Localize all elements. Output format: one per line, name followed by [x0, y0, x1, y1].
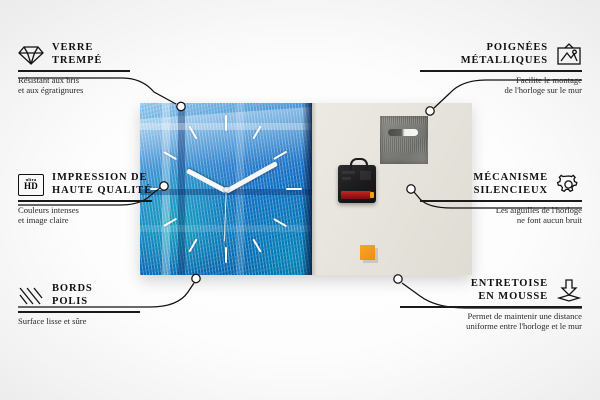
- gear-icon: [556, 173, 582, 197]
- callout-subtitle: Résistant aux bris et aux égratignures: [18, 75, 178, 96]
- callout-header: VERRE TREMPÉ: [18, 42, 178, 67]
- callout-rule: [420, 200, 582, 202]
- mechanism-vent-2: [342, 177, 351, 180]
- diamond-icon: [18, 44, 44, 66]
- callout-poignees-metalliques: POIGNÉES MÉTALLIQUES Facilite le montage…: [420, 42, 582, 96]
- callout-bords-polis: BORDS POLIS Surface lisse et sûre: [18, 283, 178, 326]
- callout-subtitle: Permet de maintenir une distance uniform…: [400, 311, 582, 332]
- second-hand: [224, 190, 227, 242]
- clock-edge-shadow: [303, 103, 312, 275]
- clock-mechanism: [338, 165, 376, 203]
- hour-tick-7: [188, 238, 198, 252]
- callout-title: IMPRESSION DE HAUTE QUALITÉ: [52, 172, 152, 197]
- callout-title: VERRE TREMPÉ: [52, 42, 102, 67]
- callout-rule: [420, 70, 582, 72]
- callout-subtitle: Surface lisse et sûre: [18, 316, 178, 327]
- callout-entretoise-en-mousse: ENTRETOISE EN MOUSSE Permet de maintenir…: [400, 278, 582, 332]
- callout-header: MÉCANISME SILENCIEUX: [420, 172, 582, 197]
- callout-title: ENTRETOISE EN MOUSSE: [471, 278, 548, 303]
- polished-edges-icon: [18, 285, 44, 307]
- callout-impression-haute-qualite: ultra HD IMPRESSION DE HAUTE QUALITÉ Cou…: [18, 172, 188, 226]
- callout-subtitle: Facilite le montage de l'horloge sur le …: [420, 75, 582, 96]
- callout-verre-trempe: VERRE TREMPÉ Résistant aux bris et aux é…: [18, 42, 178, 96]
- infographic-canvas: VERRE TREMPÉ Résistant aux bris et aux é…: [0, 0, 600, 400]
- foam-spacer: [360, 245, 375, 260]
- callout-rule: [18, 200, 152, 202]
- callout-title: POIGNÉES MÉTALLIQUES: [461, 42, 548, 67]
- metal-hanger-plate: [380, 116, 428, 164]
- hanging-picture-icon: [556, 43, 582, 67]
- callout-rule: [18, 311, 140, 313]
- callout-mecanisme-silencieux: MÉCANISME SILENCIEUX Les aiguilles de l'…: [420, 172, 582, 226]
- callout-subtitle: Couleurs intenses et image claire: [18, 205, 188, 226]
- callout-header: ENTRETOISE EN MOUSSE: [400, 278, 582, 303]
- battery: [341, 191, 371, 199]
- callout-subtitle: Les aiguilles de l'horloge ne font aucun…: [420, 205, 582, 226]
- callout-title: BORDS POLIS: [52, 283, 93, 308]
- ultra-hd-icon-large-text: HD: [24, 182, 38, 191]
- callout-title: MÉCANISME SILENCIEUX: [473, 172, 548, 197]
- callout-rule: [18, 70, 130, 72]
- connector-dot-bords-polis: [192, 274, 200, 282]
- clock-hand-pivot: [224, 187, 229, 192]
- ultra-hd-icon: ultra HD: [18, 174, 44, 196]
- callout-rule: [400, 306, 582, 308]
- mechanism-hanging-loop: [350, 158, 368, 170]
- foam-spacer-icon: [556, 279, 582, 303]
- hour-tick-5: [252, 238, 262, 252]
- hour-tick-6: [225, 247, 227, 263]
- callout-header: BORDS POLIS: [18, 283, 178, 308]
- mechanism-vent-3: [360, 171, 371, 180]
- hanger-keyhole-slot: [388, 129, 418, 136]
- callout-header: ultra HD IMPRESSION DE HAUTE QUALITÉ: [18, 172, 188, 197]
- mechanism-vent-1: [342, 171, 355, 174]
- callout-header: POIGNÉES MÉTALLIQUES: [420, 42, 582, 67]
